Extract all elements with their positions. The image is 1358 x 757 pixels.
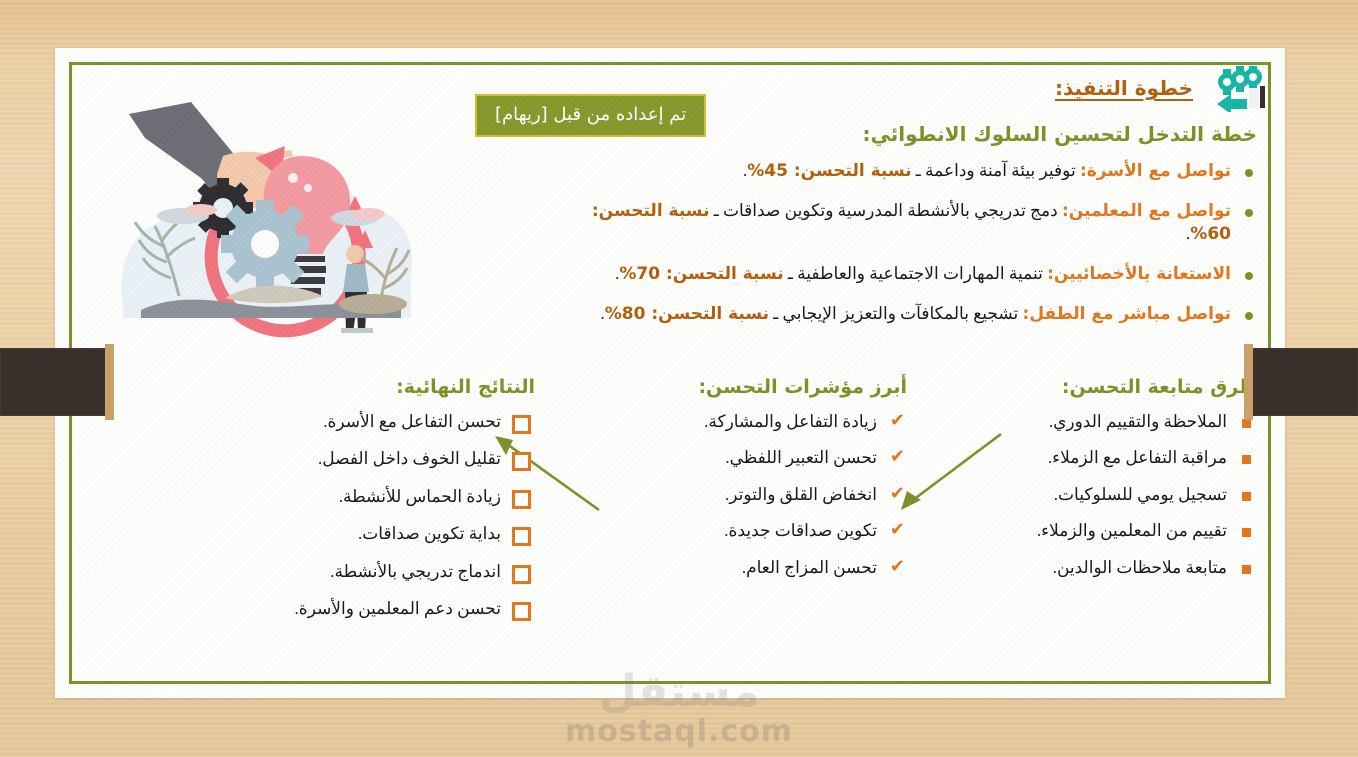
plan-item-text: دمج تدريجي بالأنشطة المدرسية وتكوين صداق…: [710, 201, 1062, 220]
plan-item-metric: نسبة التحسن: 70%: [619, 264, 783, 284]
plan-item: تواصل مع الأسرة: توفير بيئة آمنة وداعمة …: [577, 160, 1257, 182]
plan-item-text: تشجيع بالمكافآت والتعزيز الإيجابي ـ: [769, 304, 1022, 323]
indicators-list: زيادة التفاعل والمشاركة. تحسن التعبير ال…: [607, 412, 907, 578]
slide-card: تم إعداده من قبل [ريهام]: [55, 48, 1285, 698]
plan-item-metric: نسبة التحسن: 45%: [747, 161, 911, 181]
plan-item-text: تنمية المهارات الاجتماعية والعاطفية ـ: [784, 264, 1047, 283]
list-item: بداية تكوين صداقات.: [205, 524, 535, 544]
step-heading: خطوة التنفيذ:: [577, 76, 1193, 100]
list-item: تحسن التعبير اللفظي.: [607, 448, 907, 468]
plan-item: الاستعانة بالأخصائيين: تنمية المهارات ال…: [577, 263, 1257, 285]
list-item: مراقبة التفاعل مع الزملاء.: [957, 448, 1257, 468]
plan-item-text: توفير بيئة آمنة وداعمة ـ: [912, 161, 1080, 180]
plan-block: خطوة التنفيذ: خطة التدخل لتحسين السلوك ا…: [577, 70, 1257, 343]
list-item: تسجيل يومي للسلوكيات.: [957, 485, 1257, 505]
list-item: الملاحظة والتقييم الدوري.: [957, 412, 1257, 432]
list-item: تحسن المزاج العام.: [607, 558, 907, 578]
results-list: تحسن التفاعل مع الأسرة. تقليل الخوف داخل…: [205, 412, 535, 619]
follow-up-heading: طرق متابعة التحسن:: [957, 376, 1257, 398]
list-item: زيادة التفاعل والمشاركة.: [607, 412, 907, 432]
column-follow-up: طرق متابعة التحسن: الملاحظة والتقييم الد…: [957, 376, 1257, 594]
bottom-section: طرق متابعة التحسن: الملاحظة والتقييم الد…: [83, 376, 1257, 676]
list-item: انخفاض القلق والتوتر.: [607, 485, 907, 505]
plan-list: تواصل مع الأسرة: توفير بيئة آمنة وداعمة …: [577, 160, 1257, 325]
slide-content: تم إعداده من قبل [ريهام]: [83, 70, 1257, 680]
top-section: تم إعداده من قبل [ريهام]: [83, 70, 1257, 370]
ribbon-right-tail: [1244, 344, 1253, 420]
plan-item: تواصل مباشر مع الطفل: تشجيع بالمكافآت وا…: [577, 303, 1257, 325]
plan-item-label: تواصل مع الأسرة:: [1080, 161, 1231, 181]
list-item: زيادة الحماس للأنشطة.: [205, 487, 535, 507]
plan-item-label: تواصل مباشر مع الطفل:: [1023, 304, 1231, 324]
list-item: تحسن التفاعل مع الأسرة.: [205, 412, 535, 432]
follow-up-list: الملاحظة والتقييم الدوري. مراقبة التفاعل…: [957, 412, 1257, 578]
list-item: تقييم من المعلمين والزملاء.: [957, 521, 1257, 541]
plan-item-metric: نسبة التحسن: 80%: [605, 304, 769, 324]
ribbon-left: [0, 348, 108, 416]
gears-arrow-icon: [1213, 66, 1269, 112]
column-indicators: أبرز مؤشرات التحسن: زيادة التفاعل والمشا…: [607, 376, 907, 594]
results-heading: النتائج النهائية:: [205, 376, 535, 398]
list-item: متابعة ملاحظات الوالدين.: [957, 558, 1257, 578]
plan-item-label: الاستعانة بالأخصائيين:: [1047, 264, 1231, 284]
indicators-heading: أبرز مؤشرات التحسن:: [607, 376, 907, 398]
list-item: اندماج تدريجي بالأنشطة.: [205, 562, 535, 582]
ribbon-left-tail: [105, 344, 114, 420]
slide-canvas: تم إعداده من قبل [ريهام]: [0, 0, 1358, 757]
column-results: النتائج النهائية: تحسن التفاعل مع الأسرة…: [205, 376, 535, 636]
plan-item: تواصل مع المعلمين: دمج تدريجي بالأنشطة ا…: [577, 200, 1257, 245]
list-item: تقليل الخوف داخل الفصل.: [205, 449, 535, 469]
list-item: تكوين صداقات جديدة.: [607, 521, 907, 541]
idea-gears-illustration: [105, 96, 425, 354]
list-item: تحسن دعم المعلمين والأسرة.: [205, 599, 535, 619]
plan-item-label: تواصل مع المعلمين:: [1062, 201, 1231, 221]
plan-heading: خطة التدخل لتحسين السلوك الانطوائي:: [577, 122, 1257, 146]
ribbon-right: [1250, 348, 1358, 416]
